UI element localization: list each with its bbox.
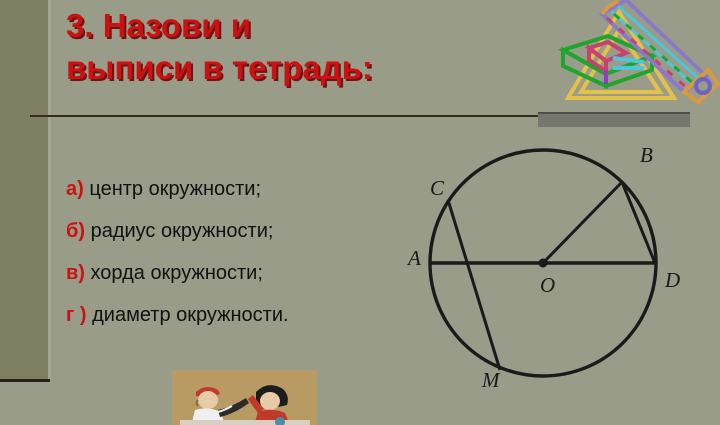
list-item-marker: г ) bbox=[66, 304, 87, 326]
page-title: 3. Назови и выписи в тетрадь: bbox=[66, 5, 546, 89]
list-item: а) центр окружности; bbox=[66, 168, 416, 210]
center-point-O bbox=[539, 259, 548, 268]
title-line-1: 3. Назови и bbox=[66, 5, 546, 47]
diagram-label-O: O bbox=[540, 275, 555, 296]
title-line-2: выписи в тетрадь: bbox=[66, 47, 546, 89]
list-item: б) радиус окружности; bbox=[66, 210, 416, 252]
list-item-marker: а) bbox=[66, 178, 84, 200]
school-supplies-clipart bbox=[556, 0, 720, 116]
list-item: в) хорда окружности; bbox=[66, 252, 416, 294]
segment-radius-OB bbox=[543, 182, 622, 263]
children-photo bbox=[172, 370, 317, 425]
list-item-text: диаметр окружности. bbox=[87, 304, 289, 326]
diagram-label-A: A bbox=[408, 248, 421, 269]
slide-root: 3. Назови и выписи в тетрадь: а) центр о… bbox=[0, 0, 720, 425]
diagram-label-M: M bbox=[482, 370, 500, 391]
list-item-text: хорда окружности; bbox=[85, 262, 263, 284]
segment-chord-CM bbox=[448, 200, 500, 370]
list-item-text: радиус окружности; bbox=[85, 220, 273, 242]
list-item: г ) диаметр окружности. bbox=[66, 294, 416, 336]
circle-diagram: A B C D M O bbox=[400, 130, 720, 425]
sidebar-band-rule bbox=[0, 379, 50, 382]
list-item-marker: в) bbox=[66, 262, 85, 284]
list-item-text: центр окружности; bbox=[84, 178, 261, 200]
diagram-label-B: B bbox=[640, 145, 653, 166]
task-list: а) центр окружности; б) радиус окружност… bbox=[66, 168, 416, 336]
sidebar-band-seam bbox=[48, 0, 51, 379]
sidebar-band bbox=[0, 0, 48, 379]
diagram-label-C: C bbox=[430, 178, 444, 199]
list-item-marker: б) bbox=[66, 220, 85, 242]
diagram-label-D: D bbox=[665, 270, 680, 291]
header-divider bbox=[30, 115, 540, 117]
